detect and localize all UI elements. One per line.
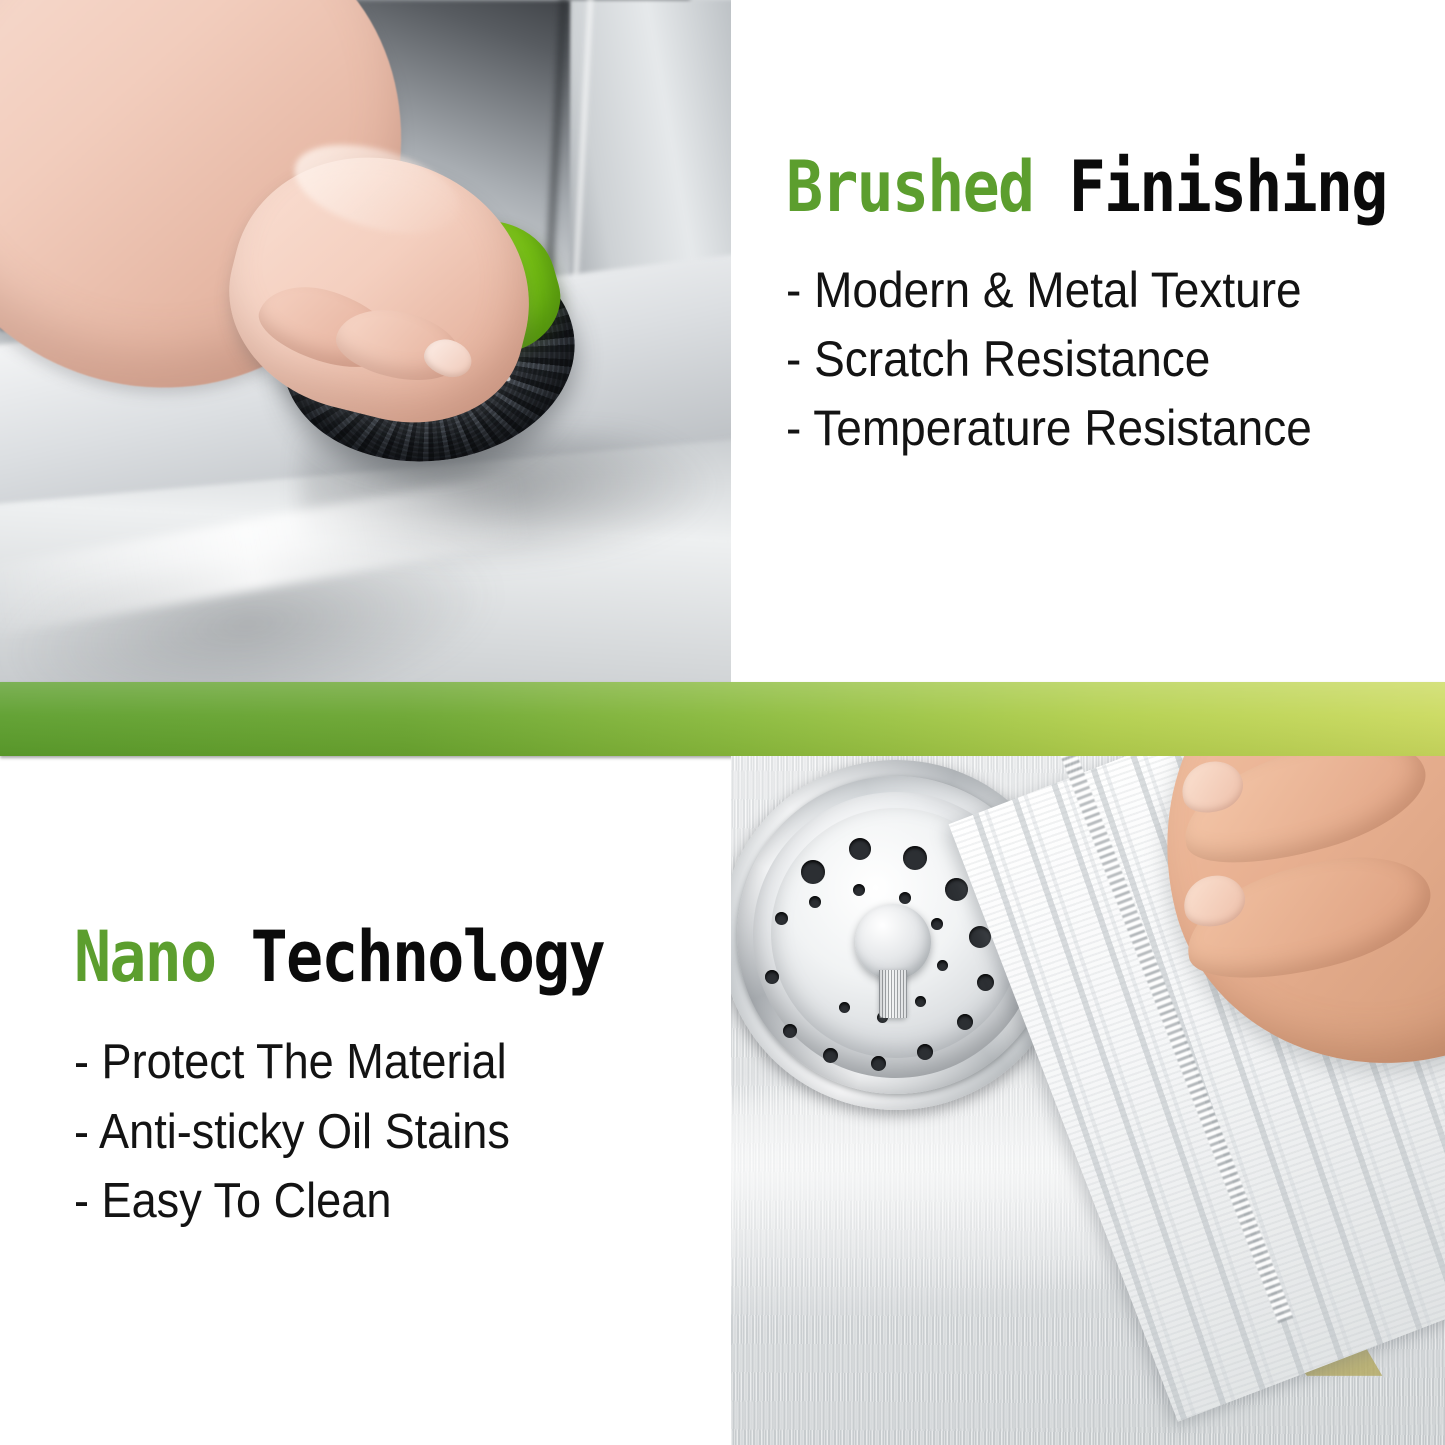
- strainer-hole: [853, 884, 865, 896]
- bullet-item: - Easy To Clean: [74, 1167, 654, 1237]
- heading-space: [215, 916, 250, 998]
- strainer-hole: [931, 918, 943, 930]
- panel-brushed-finishing: Brushed Finishing - Modern & Metal Textu…: [786, 152, 1426, 463]
- bullet-item: - Anti-sticky Oil Stains: [74, 1098, 654, 1168]
- strainer-hole: [823, 1048, 838, 1063]
- strainer-hole: [945, 878, 968, 901]
- bullet-item: - Temperature Resistance: [786, 394, 1375, 463]
- strainer-hole: [783, 1024, 797, 1038]
- strainer-hole: [801, 860, 825, 884]
- bullet-item: - Protect The Material: [74, 1028, 654, 1098]
- heading-brushed-finishing: Brushed Finishing: [786, 152, 1349, 222]
- strainer-hole: [977, 974, 994, 991]
- heading-green-word: Nano: [74, 916, 215, 998]
- heading-black-word-text: Finishing: [1069, 146, 1387, 228]
- strainer-hole: [765, 970, 779, 984]
- bullet-list-nano: - Protect The Material - Anti-sticky Oil…: [74, 1028, 704, 1237]
- photo-sink-scrubbing: [0, 0, 731, 682]
- strainer-stem: [879, 970, 907, 1018]
- strainer-hole: [969, 926, 991, 948]
- strainer-hole: [903, 846, 927, 870]
- bullet-list-brushed: - Modern & Metal Texture - Scratch Resis…: [786, 256, 1426, 463]
- strainer-hole: [849, 838, 871, 860]
- heading-black-word: [1033, 146, 1068, 228]
- heading-black-word-text: Technology: [251, 916, 604, 998]
- strainer-hole: [899, 892, 911, 904]
- strainer-hole: [809, 896, 821, 908]
- heading-nano-technology: Nano Technology: [74, 922, 628, 992]
- strainer-hole: [775, 912, 788, 925]
- strainer-center-knob: [855, 904, 931, 980]
- bullet-item: - Scratch Resistance: [786, 325, 1375, 394]
- strainer-hole: [915, 996, 926, 1007]
- bullet-item: - Modern & Metal Texture: [786, 256, 1375, 325]
- panel-nano-technology: Nano Technology - Protect The Material -…: [74, 922, 704, 1237]
- strainer-hole: [937, 960, 948, 971]
- divider-sheen: [0, 682, 1445, 756]
- heading-green-word: Brushed: [786, 146, 1033, 228]
- strainer-stem-ribbing: [879, 970, 907, 1018]
- strainer-hole: [871, 1056, 886, 1071]
- product-infographic: Brushed Finishing - Modern & Metal Textu…: [0, 0, 1445, 1445]
- strainer-hole: [957, 1014, 973, 1030]
- photo-drain-oil-wipe: [731, 756, 1445, 1445]
- green-divider-bar: [0, 682, 1445, 756]
- strainer-hole: [839, 1002, 850, 1013]
- strainer-hole: [917, 1044, 933, 1060]
